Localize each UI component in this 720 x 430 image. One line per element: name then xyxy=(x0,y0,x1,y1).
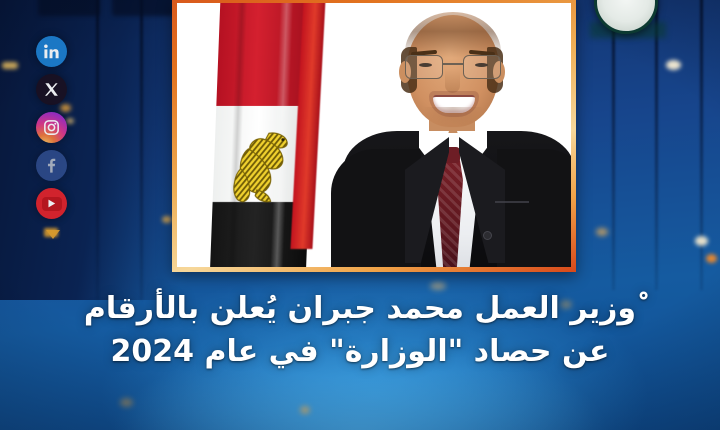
social-link-linkedin[interactable] xyxy=(36,36,67,67)
portrait-photo xyxy=(177,3,571,267)
eagle-of-saladin-icon xyxy=(224,128,299,206)
nose xyxy=(445,69,460,93)
suit-pocket xyxy=(495,201,529,203)
headline: ْوزير العمل محمد جبران يُعلن بالأرقام عن… xyxy=(0,288,720,373)
facebook-icon xyxy=(43,157,60,174)
headline-line-1: ْوزير العمل محمد جبران يُعلن بالأرقام xyxy=(18,288,702,331)
eyeglass-lens-right xyxy=(463,55,501,79)
youtube-icon xyxy=(42,197,62,211)
social-links-rail[interactable] xyxy=(36,36,69,239)
instagram-icon xyxy=(43,119,60,136)
suit-button xyxy=(483,231,492,240)
eyeglass-lens-left xyxy=(405,55,443,79)
news-card: ْوزير العمل محمد جبران يُعلن بالأرقام عن… xyxy=(0,0,720,430)
play-triangle-icon xyxy=(48,199,56,208)
social-link-facebook[interactable] xyxy=(36,150,67,181)
x-icon xyxy=(44,82,59,97)
portrait-frame xyxy=(172,0,576,272)
social-link-youtube[interactable] xyxy=(36,188,67,219)
headline-line-2: عن حصاد "الوزارة" في عام 2024 xyxy=(18,331,702,374)
social-link-x[interactable] xyxy=(36,74,67,105)
suit-shoulder-right xyxy=(497,149,571,267)
portrait-subject xyxy=(337,3,571,267)
linkedin-icon xyxy=(43,43,60,60)
chin-shadow xyxy=(423,107,483,129)
scroll-down-caret-icon[interactable] xyxy=(46,230,60,239)
eyeglass-bridge xyxy=(443,63,463,65)
social-link-instagram[interactable] xyxy=(36,112,67,143)
